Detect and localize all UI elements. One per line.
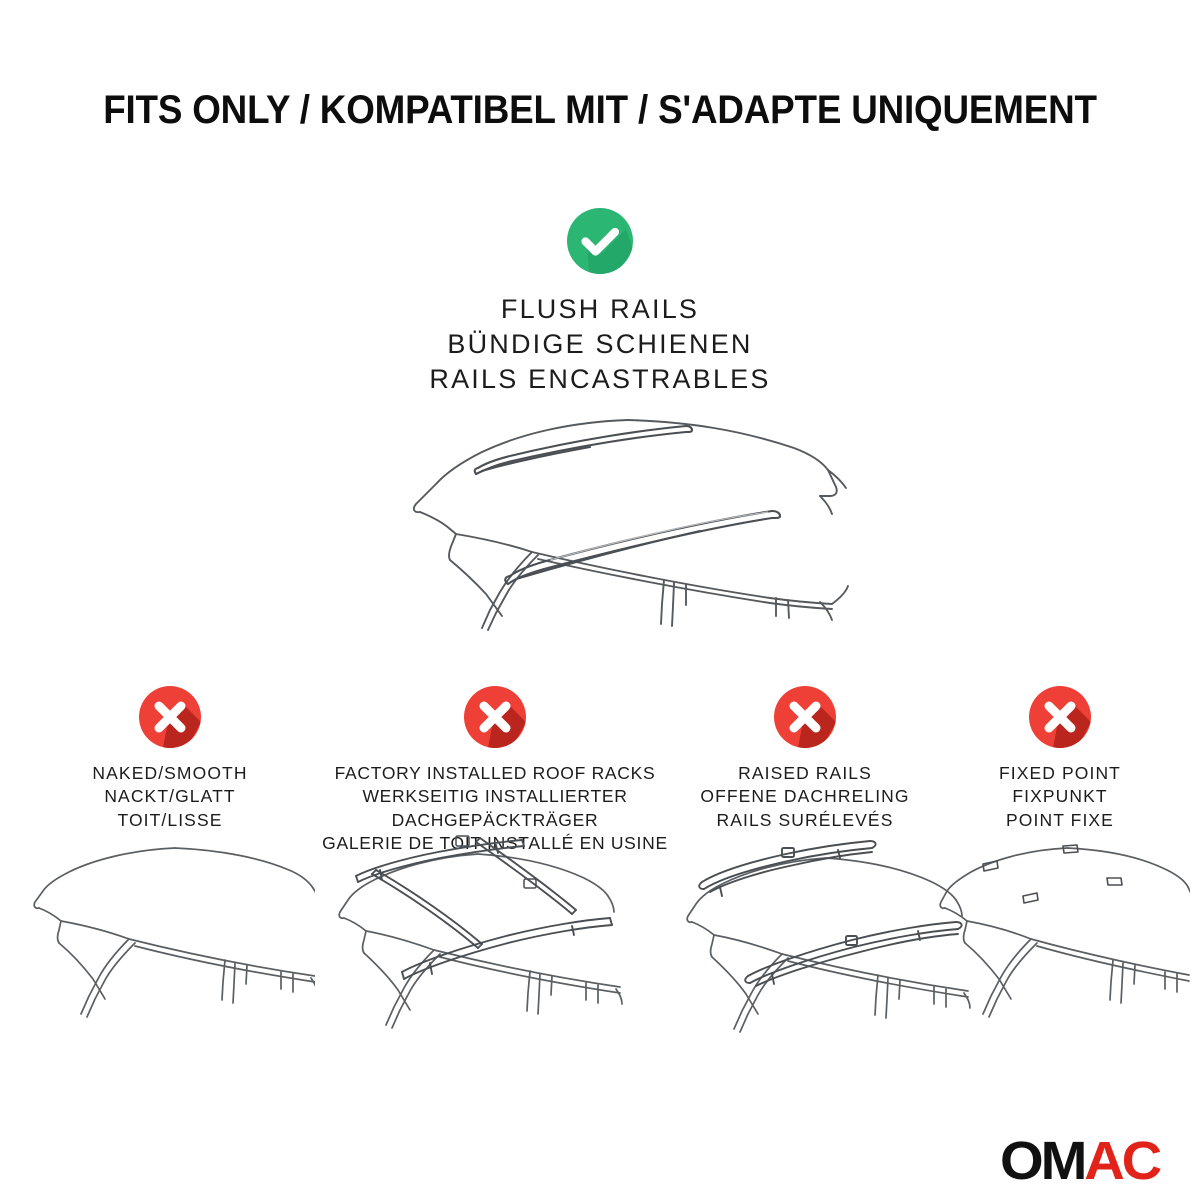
omac-logo-text: OMAC <box>1000 1133 1185 1189</box>
rejected-item-naked-smooth: NAKED/SMOOTH NACKT/GLATT TOIT/LISSE <box>30 686 310 832</box>
approved-label: FLUSH RAILS BÜNDIGE SCHIENEN RAILS ENCAS… <box>0 292 1200 397</box>
omac-logo: OMAC <box>1000 1133 1178 1189</box>
omac-logo-dark: OM <box>1000 1131 1084 1191</box>
rejected-item-fixed-point: FIXED POINT FIXPUNKT POINT FIXE <box>940 686 1180 832</box>
car-roof-fixed-point-illustration <box>935 836 1190 1051</box>
car-roof-factory-racks-illustration <box>310 824 640 1054</box>
rejected-item-label-line: NAKED/SMOOTH <box>30 762 310 785</box>
rejected-item-label: NAKED/SMOOTH NACKT/GLATT TOIT/LISSE <box>30 762 310 832</box>
rejected-item-raised-rails: RAISED RAILS OFFENE DACHRELING RAILS SUR… <box>665 686 945 832</box>
x-circle-icon <box>774 686 836 748</box>
x-glyph <box>1029 686 1091 748</box>
x-circle-icon <box>139 686 201 748</box>
car-roof-raised-rails-illustration <box>660 824 980 1054</box>
approved-label-line: BÜNDIGE SCHIENEN <box>0 327 1200 362</box>
rejected-item-label-line: POINT FIXE <box>940 809 1180 832</box>
approved-section: FLUSH RAILS BÜNDIGE SCHIENEN RAILS ENCAS… <box>0 208 1200 397</box>
rejected-item-label-line: FACTORY INSTALLED ROOF RACKS <box>300 762 690 785</box>
x-circle-icon <box>464 686 526 748</box>
car-roof-flush-rails-illustration <box>390 392 860 642</box>
rejected-item-label-line: NACKT/GLATT <box>30 785 310 808</box>
page-title-text: FITS ONLY / KOMPATIBEL MIT / S'ADAPTE UN… <box>103 88 1097 133</box>
car-roof-naked-illustration <box>25 836 315 1051</box>
x-circle-icon <box>1029 686 1091 748</box>
x-glyph <box>464 686 526 748</box>
rejected-item-label-line: FIXED POINT <box>940 762 1180 785</box>
omac-logo-red: AC <box>1084 1131 1159 1191</box>
x-glyph <box>774 686 836 748</box>
approved-label-line: FLUSH RAILS <box>0 292 1200 327</box>
rejected-section: NAKED/SMOOTH NACKT/GLATT TOIT/LISSE <box>0 686 1200 1106</box>
check-glyph <box>567 208 633 274</box>
rejected-item-label: RAISED RAILS OFFENE DACHRELING RAILS SUR… <box>665 762 945 832</box>
check-circle-icon <box>567 208 633 274</box>
rejected-item-factory-installed-roof-racks: FACTORY INSTALLED ROOF RACKS WERKSEITIG … <box>300 686 690 855</box>
x-glyph <box>139 686 201 748</box>
rejected-item-label-line: OFFENE DACHRELING <box>665 785 945 808</box>
page-title: FITS ONLY / KOMPATIBEL MIT / S'ADAPTE UN… <box>0 88 1200 133</box>
rejected-item-label: FIXED POINT FIXPUNKT POINT FIXE <box>940 762 1180 832</box>
rejected-item-label-line: FIXPUNKT <box>940 785 1180 808</box>
rejected-item-label-line: WERKSEITIG INSTALLIERTER <box>300 785 690 808</box>
rejected-item-label-line: TOIT/LISSE <box>30 809 310 832</box>
rejected-item-label-line: RAISED RAILS <box>665 762 945 785</box>
